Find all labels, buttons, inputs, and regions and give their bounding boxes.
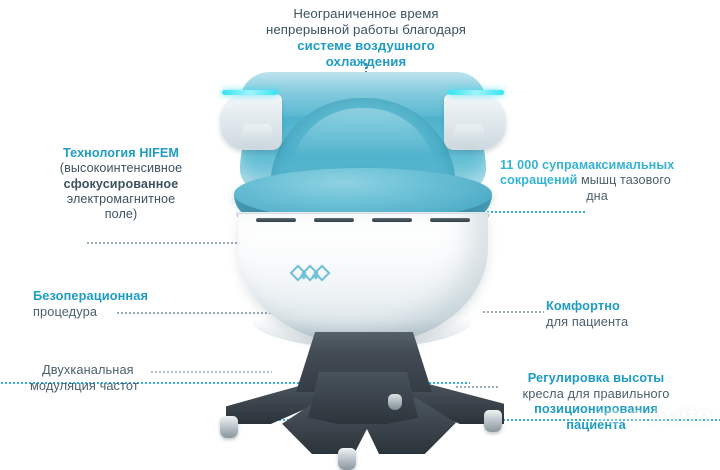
callout-comfort-line1: Комфортно <box>546 298 696 314</box>
vent-slot <box>430 218 470 222</box>
callout-height-line2: кресла для правильного <box>498 386 694 402</box>
base-foot-left <box>220 416 238 438</box>
callout-height-adjustment: Регулировка высоты кресла для правильног… <box>498 370 694 432</box>
callout-height-line3: позиционирования <box>498 401 694 417</box>
infographic-canvas: Неограниченное время непрерывной работы … <box>0 0 720 446</box>
callout-height-line1: Регулировка высоты <box>498 370 694 386</box>
callout-height-line4: пациента <box>498 417 694 433</box>
callout-dualchannel-line2: модуляция частот <box>30 378 200 394</box>
air-cooling-vents <box>256 218 470 226</box>
callout-hifem-line5: поле) <box>28 207 214 222</box>
callout-cooling-line2: непрерывной работы благодаря <box>254 22 478 38</box>
callout-nonsurgical-line2: процедура <box>33 304 203 320</box>
callout-nonsurgical-line1: Безоперационная <box>33 288 203 304</box>
vent-slot <box>256 218 296 222</box>
callout-cooling-line3: системе воздушного <box>254 38 478 54</box>
callout-cooling-line1: Неограниченное время <box>254 6 478 22</box>
armrest-pad-left <box>242 124 272 148</box>
callout-hifem-line3: сфокусированное <box>28 177 214 192</box>
device-illustration <box>212 64 512 432</box>
callout-hifem-title: Технология HIFEM <box>28 146 214 161</box>
brand-diamond-logo-icon <box>290 264 336 286</box>
cooling-glow-strip-right <box>448 90 504 95</box>
callout-contractions-line2-accent: сокращений <box>500 173 577 187</box>
callout-comfort-line2: для пациента <box>546 314 696 330</box>
callout-hifem-line4: электромагнитное <box>28 192 214 207</box>
callout-contractions-line2-body: мышц тазового <box>577 173 670 187</box>
callout-contractions-line1: 11 000 супрамаксимальных <box>500 158 694 173</box>
callout-hifem-technology: Технология HIFEM (высокоинтенсивное сфок… <box>28 146 214 223</box>
callout-cooling-line4: охлаждения <box>254 54 478 70</box>
callout-hifem-line2: (высокоинтенсивное <box>28 161 214 176</box>
callout-contractions: 11 000 супрамаксимальных сокращений мышц… <box>500 158 694 204</box>
vent-slot <box>314 218 354 222</box>
armrest-pad-right <box>454 124 484 148</box>
callout-dualchannel-line1: Двухканальная <box>30 362 200 378</box>
callout-dual-channel: Двухканальная модуляция частот <box>30 362 200 393</box>
cooling-glow-strip-left <box>222 90 278 95</box>
callout-air-cooling: Неограниченное время непрерывной работы … <box>254 6 478 70</box>
base-foot-front <box>338 448 356 470</box>
callout-contractions-line3: дна <box>500 189 694 204</box>
callout-nonsurgical: Безоперационная процедура <box>33 288 203 319</box>
vent-slot <box>372 218 412 222</box>
callout-comfort: Комфортно для пациента <box>546 298 696 329</box>
base-foot-back <box>388 394 402 410</box>
